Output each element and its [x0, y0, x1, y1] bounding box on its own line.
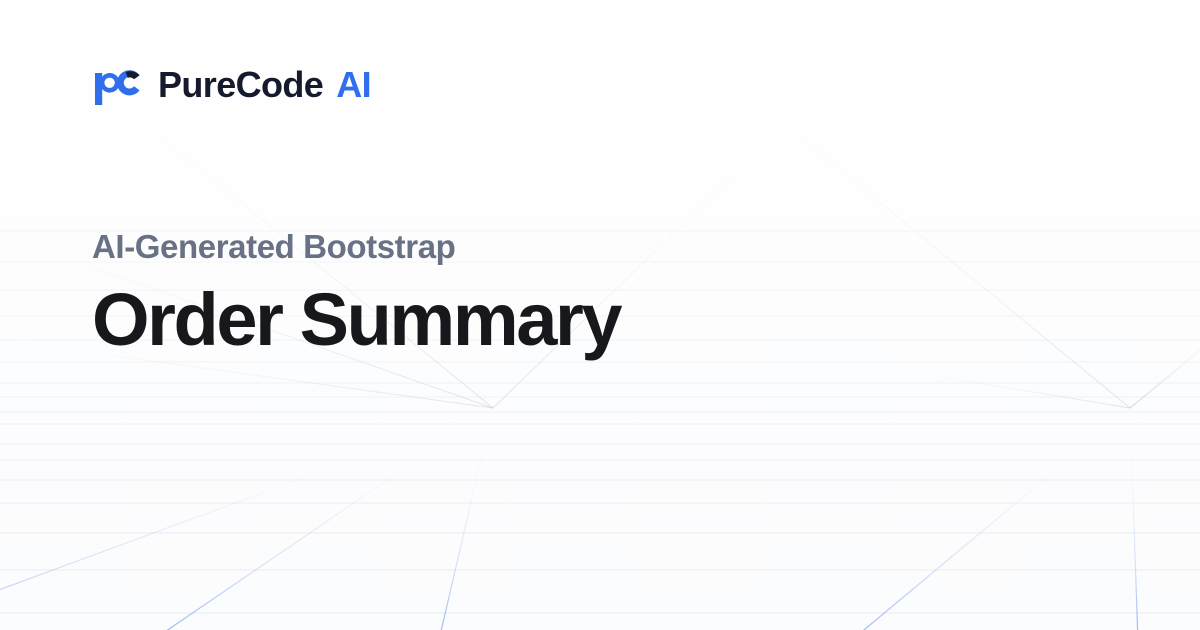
brand-wordmark: PureCode AI — [158, 67, 371, 103]
page-title: Order Summary — [92, 281, 1092, 359]
brand-name: PureCode — [158, 67, 323, 103]
eyebrow-label: AI-Generated Bootstrap — [92, 228, 1092, 267]
brand-lockup[interactable]: PureCode AI — [92, 60, 371, 110]
card-content: PureCode AI AI-Generated Bootstrap Order… — [0, 0, 1200, 630]
purecode-pc-monogram-icon — [92, 63, 144, 107]
brand-suffix: AI — [336, 67, 371, 103]
headline-block: AI-Generated Bootstrap Order Summary — [92, 228, 1092, 359]
og-card: PureCode AI AI-Generated Bootstrap Order… — [0, 0, 1200, 630]
